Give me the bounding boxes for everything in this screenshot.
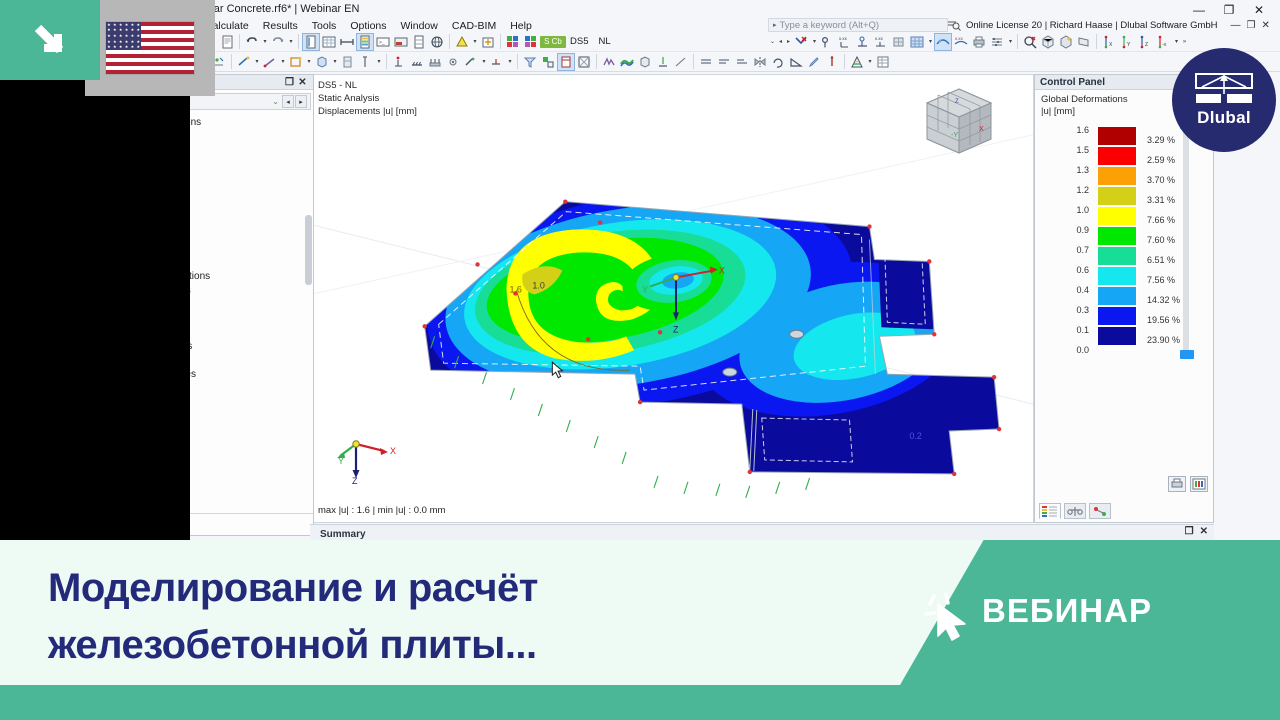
select-dropdown-icon[interactable]: ▾ bbox=[810, 38, 818, 45]
angle-icon[interactable] bbox=[787, 53, 805, 71]
open-document-icon[interactable] bbox=[218, 33, 236, 51]
title-bar: ...inar Concrete.rf6* | Webinar EN — ❐ ✕ bbox=[190, 0, 1280, 20]
webinar-banner: Моделирование и расчёт железобетонной пл… bbox=[0, 540, 1280, 720]
tree-item[interactable]: uX bbox=[190, 143, 313, 157]
viewport-axis-z-label: Z bbox=[673, 324, 679, 334]
legend-swatch[interactable] bbox=[1097, 286, 1137, 306]
tree-item-label: Internal Forces bbox=[190, 285, 191, 296]
window-title: ...inar Concrete.rf6* | Webinar EN bbox=[196, 3, 359, 15]
svg-text:>_: >_ bbox=[379, 40, 385, 46]
view-plane-icon[interactable] bbox=[539, 53, 557, 71]
arrow-overlay-box bbox=[0, 0, 100, 80]
legend-swatch[interactable] bbox=[1097, 246, 1137, 266]
toolbar-separator bbox=[449, 34, 450, 49]
dlubal-wordmark: Dlubal bbox=[1197, 108, 1251, 128]
pin-icon[interactable] bbox=[823, 53, 841, 71]
tree-item[interactable]: |u| bbox=[190, 129, 313, 143]
settings-icon[interactable] bbox=[1190, 476, 1208, 492]
analysis-next-button[interactable]: ▸ bbox=[295, 95, 307, 108]
tab-color-scale[interactable] bbox=[1039, 503, 1061, 519]
tab-scale[interactable] bbox=[1064, 503, 1086, 519]
solids-visibility-icon[interactable] bbox=[636, 53, 654, 71]
window-controls: — ❐ ✕ bbox=[1184, 0, 1274, 20]
tree-item[interactable]: uY bbox=[190, 157, 313, 171]
solid-dropdown-icon[interactable]: ▾ bbox=[331, 58, 339, 65]
line-support-icon[interactable] bbox=[408, 53, 426, 71]
analysis-prev-button[interactable]: ◂ bbox=[282, 95, 294, 108]
abacus-icon[interactable] bbox=[988, 33, 1006, 51]
toolbar-separator bbox=[239, 34, 240, 49]
arrow-down-right-icon bbox=[22, 12, 78, 68]
viewport-info-line-1: DS5 - NL bbox=[318, 79, 417, 92]
mesh-icon[interactable] bbox=[890, 33, 908, 51]
legend-range-slider[interactable] bbox=[1183, 122, 1189, 354]
tree-item-label: Local Deformations bbox=[190, 271, 210, 282]
legend-swatch[interactable] bbox=[1097, 206, 1137, 226]
rigid-link-icon[interactable] bbox=[462, 53, 480, 71]
legend-percent: 7.60 % bbox=[1147, 230, 1203, 250]
viewport-info-line-2: Static Analysis bbox=[318, 92, 417, 105]
rfem-application-window: ...inar Concrete.rf6* | Webinar EN — ❐ ✕… bbox=[190, 0, 1280, 543]
summary-controls: ❐ ✕ bbox=[1185, 526, 1208, 537]
deformation-view-icon[interactable] bbox=[934, 33, 952, 51]
menu-item-help[interactable]: Help bbox=[503, 19, 539, 33]
legend-handle-bottom[interactable] bbox=[1180, 350, 1194, 359]
grid-dropdown-icon[interactable]: ▾ bbox=[926, 38, 934, 45]
tree-item[interactable]: ⌄Global Deformations bbox=[190, 115, 313, 129]
summary-label: Summary bbox=[320, 529, 366, 540]
view-y-icon[interactable]: Y bbox=[1118, 33, 1136, 51]
surface-result-icon[interactable]: x.xx bbox=[872, 33, 890, 51]
analysis-caret-icon[interactable]: ⌄ bbox=[272, 97, 279, 106]
license-info-bar: Online License 20 | Richard Haase | Dlub… bbox=[948, 18, 1270, 32]
tree-item[interactable]: ›Envelope Values bbox=[190, 353, 313, 367]
legend-tick: 0.1 bbox=[1043, 320, 1093, 340]
redo-dropdown-icon[interactable]: ▾ bbox=[287, 38, 295, 45]
click-cursor-icon bbox=[924, 590, 980, 646]
tree-item[interactable]: ›x.xxResult Values bbox=[190, 515, 313, 529]
toolbar-separator bbox=[500, 34, 501, 49]
filter-icon[interactable] bbox=[521, 53, 539, 71]
load-case-value: DS5 bbox=[570, 36, 588, 47]
svg-text:x.xx: x.xx bbox=[875, 36, 884, 41]
members-visibility-icon[interactable] bbox=[600, 53, 618, 71]
tree-item[interactable]: ›Shape bbox=[190, 325, 313, 339]
load-case-tag: S Cb bbox=[540, 36, 566, 48]
results-colors-icon[interactable] bbox=[504, 33, 522, 51]
legend-swatch[interactable] bbox=[1097, 306, 1137, 326]
surface-create-icon[interactable] bbox=[287, 53, 305, 71]
view-dropdown-icon[interactable]: ▾ bbox=[1172, 38, 1180, 45]
license-search-icon bbox=[948, 20, 961, 31]
legend-tick: 1.5 bbox=[1043, 140, 1093, 160]
legend-percent-labels: 3.29 %2.59 %3.70 %3.31 %7.66 %7.60 %6.51… bbox=[1147, 130, 1203, 350]
menu-item-tools[interactable]: Tools bbox=[305, 19, 344, 33]
summary-close-button[interactable]: ✕ bbox=[1200, 526, 1208, 537]
legend-tick: 1.0 bbox=[1043, 200, 1093, 220]
legend-swatch[interactable] bbox=[1097, 126, 1137, 146]
legend-percent: 7.66 % bbox=[1147, 210, 1203, 230]
doc-restore-button[interactable]: ❐ bbox=[1247, 20, 1256, 31]
add-load-icon[interactable] bbox=[479, 33, 497, 51]
tree-item[interactable]: ›xxValues on Surfaces bbox=[190, 367, 313, 381]
tree-item[interactable]: ›Support Reactions bbox=[190, 339, 313, 353]
print-icon[interactable] bbox=[1168, 476, 1186, 492]
section-icon[interactable] bbox=[339, 53, 357, 71]
legend-swatch[interactable] bbox=[1097, 226, 1137, 246]
toolbar-separator bbox=[596, 54, 597, 69]
svg-text:x.xx: x.xx bbox=[839, 36, 848, 41]
script-icon[interactable] bbox=[392, 33, 410, 51]
tree-item[interactable]: uZ bbox=[190, 171, 313, 185]
iso-view2-icon[interactable] bbox=[1057, 33, 1075, 51]
legend-tick: 1.3 bbox=[1043, 160, 1093, 180]
toolbar-primary: ▾ ▾ ▾ >_ bbox=[190, 32, 1280, 52]
svg-text:Z: Z bbox=[352, 476, 358, 484]
legend-swatch[interactable] bbox=[1097, 146, 1137, 166]
results-tree[interactable]: ⌄Global Deformations|u|uXuYuZφXφYφZ›Memb… bbox=[190, 113, 313, 513]
control-panel: Control Panel Global Deformations |u| [m… bbox=[1034, 74, 1214, 523]
model-viewport[interactable]: X Y Z 1.6 1.0 0.2 DS5 - NL Static Analys… bbox=[310, 74, 1034, 523]
control-panel-title: Control Panel bbox=[1040, 77, 1105, 88]
console-icon[interactable]: >_ bbox=[374, 33, 392, 51]
legend-swatch[interactable] bbox=[1097, 326, 1137, 346]
design-situation-value: NL bbox=[598, 36, 768, 47]
legend-tick: 1.6 bbox=[1043, 120, 1093, 140]
contour-label-16: 1.6 bbox=[509, 284, 521, 294]
navcube-y-label: -Y bbox=[951, 132, 958, 139]
redo-icon[interactable] bbox=[269, 33, 287, 51]
legend-percent: 2.59 % bbox=[1147, 150, 1203, 170]
legend-tick-labels: 1.61.51.31.21.00.90.70.60.40.30.10.0 bbox=[1043, 120, 1093, 360]
tree-item[interactable]: ›Internal Forces bbox=[190, 283, 313, 297]
tree-item[interactable]: ›Members bbox=[190, 227, 313, 241]
view-z-icon[interactable]: Z bbox=[1136, 33, 1154, 51]
sidebar-icon[interactable] bbox=[410, 33, 428, 51]
mirror-icon[interactable] bbox=[751, 53, 769, 71]
legend-percent: 3.31 % bbox=[1147, 190, 1203, 210]
zoom-reset-icon[interactable] bbox=[1021, 33, 1039, 51]
results-tree-footer[interactable]: ›x.xxResult ValuesTitle InformationMax/M… bbox=[190, 513, 313, 543]
member-dropdown-icon[interactable]: ▾ bbox=[279, 58, 287, 65]
viewport-axis-x-label: X bbox=[719, 265, 725, 275]
results-colors-alt-icon[interactable] bbox=[522, 33, 540, 51]
eccentricity-icon[interactable] bbox=[488, 53, 506, 71]
banner-title: Моделирование и расчёт железобетонной пл… bbox=[48, 560, 868, 674]
view-neg-x-icon[interactable]: -X bbox=[1154, 33, 1172, 51]
legend-tick: 1.2 bbox=[1043, 180, 1093, 200]
tree-item[interactable]: φY bbox=[190, 199, 313, 213]
view-x-icon[interactable]: X bbox=[1100, 33, 1118, 51]
svg-text:Y: Y bbox=[1127, 42, 1131, 48]
material-icon[interactable] bbox=[357, 53, 375, 71]
menu-item-window[interactable]: Window bbox=[394, 19, 445, 33]
legend-tick: 0.6 bbox=[1043, 260, 1093, 280]
solid-create-icon[interactable] bbox=[313, 53, 331, 71]
render-mode-icon[interactable] bbox=[557, 53, 575, 71]
svg-text:-X: -X bbox=[1162, 42, 1166, 47]
license-text: Online License 20 | Richard Haase | Dlub… bbox=[966, 20, 1218, 31]
viewport-info-block: DS5 - NL Static Analysis Displacements |… bbox=[318, 79, 417, 118]
colorscale-dropdown-icon[interactable]: ▾ bbox=[866, 58, 874, 65]
flag-canton: ★★★★★★ ★★★★★★ ★★★★★★ ★★★★★★ ★★★★★★ bbox=[106, 22, 141, 50]
navcube-x-label: X bbox=[979, 126, 984, 133]
perspective-icon[interactable] bbox=[1075, 33, 1093, 51]
toolbar-separator bbox=[1096, 34, 1097, 49]
wireframe-icon[interactable] bbox=[575, 53, 593, 71]
iso-view-icon[interactable] bbox=[1039, 33, 1057, 51]
control-panel-tabs bbox=[1039, 503, 1111, 519]
legend-percent: 6.51 % bbox=[1147, 250, 1203, 270]
legend-tick: 0.9 bbox=[1043, 220, 1093, 240]
doc-minimize-button[interactable]: — bbox=[1231, 20, 1241, 31]
node-result-icon[interactable] bbox=[818, 33, 836, 51]
toolbar-separator bbox=[298, 34, 299, 49]
tree-item[interactable]: ›Stresses bbox=[190, 297, 313, 311]
ds-dropdown-icon[interactable]: ⌄ bbox=[768, 38, 776, 45]
toolbar-separator bbox=[517, 54, 518, 69]
svg-text:Z: Z bbox=[1145, 42, 1148, 48]
line-dropdown-icon[interactable]: ▾ bbox=[253, 58, 261, 65]
load-icon[interactable] bbox=[453, 33, 471, 51]
surface-support-icon[interactable] bbox=[426, 53, 444, 71]
ds-next-icon[interactable]: ▸ bbox=[784, 38, 792, 45]
nodal-support-icon[interactable] bbox=[390, 53, 408, 71]
contour-label-10: 1.0 bbox=[532, 280, 544, 290]
toolbar-separator bbox=[386, 54, 387, 69]
tree-item-label: Support Reactions bbox=[190, 341, 192, 352]
color-legend[interactable]: 1.61.51.31.21.00.90.70.60.40.30.10.0 3.2… bbox=[1035, 126, 1213, 376]
tree-item[interactable]: φZ bbox=[190, 213, 313, 227]
legend-percent: 7.56 % bbox=[1147, 270, 1203, 290]
dlubal-logo: Dlubal bbox=[1172, 48, 1276, 152]
supports-visibility-icon[interactable] bbox=[654, 53, 672, 71]
toolbar-overflow-icon[interactable]: » bbox=[1180, 39, 1188, 45]
control-panel-icon[interactable] bbox=[356, 33, 374, 51]
load-dropdown-icon[interactable]: ▾ bbox=[471, 38, 479, 45]
tree-item[interactable]: ›Strains bbox=[190, 311, 313, 325]
summary-float-button[interactable]: ❐ bbox=[1185, 526, 1194, 537]
flag-overlay-box: ★★★★★★ ★★★★★★ ★★★★★★ ★★★★★★ ★★★★★★ bbox=[85, 0, 215, 96]
material-dropdown-icon[interactable]: ▾ bbox=[375, 58, 383, 65]
viewport-maxmin-text: max |u| : 1.6 | min |u| : 0.0 mm bbox=[318, 505, 445, 516]
measure-icon[interactable] bbox=[338, 33, 356, 51]
doc-window-controls: — ❐ ✕ bbox=[1231, 20, 1270, 31]
deformation-values-icon[interactable]: x.xx bbox=[952, 33, 970, 51]
table-results-icon[interactable] bbox=[874, 53, 892, 71]
pen-icon[interactable] bbox=[805, 53, 823, 71]
tree-item[interactable]: ⌄Surfaces bbox=[190, 241, 313, 255]
abacus-dropdown-icon[interactable]: ▾ bbox=[1006, 38, 1014, 45]
minimize-button[interactable]: — bbox=[1184, 0, 1214, 20]
color-scale-icon[interactable] bbox=[848, 53, 866, 71]
us-flag-icon: ★★★★★★ ★★★★★★ ★★★★★★ ★★★★★★ ★★★★★★ bbox=[106, 22, 194, 74]
align-2-icon[interactable] bbox=[715, 53, 733, 71]
doc-close-button[interactable]: ✕ bbox=[1262, 20, 1270, 31]
tree-item-label: Global Deformations bbox=[190, 117, 201, 128]
tree-item[interactable]: ›Local Deformations bbox=[190, 269, 313, 283]
ecc-dropdown-icon[interactable]: ▾ bbox=[506, 58, 514, 65]
undo-icon[interactable] bbox=[243, 33, 261, 51]
keyword-search-input[interactable]: ▸ Type a keyword (Alt+Q) bbox=[768, 18, 948, 32]
toolbar-separator bbox=[844, 54, 845, 69]
surface-dropdown-icon[interactable]: ▾ bbox=[305, 58, 313, 65]
values-result-icon[interactable]: x.xx bbox=[836, 33, 854, 51]
menu-item-cad-bim[interactable]: CAD-BIM bbox=[445, 19, 503, 33]
control-panel-buttons bbox=[1168, 476, 1208, 492]
legend-swatch[interactable] bbox=[1097, 186, 1137, 206]
svg-text:X: X bbox=[1109, 42, 1113, 48]
svg-text:Y: Y bbox=[338, 456, 344, 466]
banner-bottom-strip bbox=[0, 685, 1280, 720]
align-1-icon[interactable] bbox=[697, 53, 715, 71]
surfaces-visibility-icon[interactable] bbox=[618, 53, 636, 71]
grid-icon[interactable] bbox=[908, 33, 926, 51]
navigator-close-button[interactable]: ✕ bbox=[296, 77, 309, 88]
toolbar-separator bbox=[1017, 34, 1018, 49]
contour-label-02: 0.2 bbox=[909, 431, 921, 441]
banner-badge: ВЕБИНАР bbox=[982, 592, 1152, 630]
undo-dropdown-icon[interactable]: ▾ bbox=[261, 38, 269, 45]
navigator-scrollbar[interactable] bbox=[305, 215, 312, 285]
search-caret-icon: ▸ bbox=[773, 21, 777, 29]
global-axis-triad: X Y Z bbox=[336, 434, 406, 484]
table-panel-icon[interactable] bbox=[320, 33, 338, 51]
legend-swatch[interactable] bbox=[1097, 266, 1137, 286]
viewport-info-line-3: Displacements |u| [mm] bbox=[318, 105, 417, 118]
align-3-icon[interactable] bbox=[733, 53, 751, 71]
tree-item-label: Values on Surfaces bbox=[190, 369, 196, 380]
member-create-icon[interactable] bbox=[261, 53, 279, 71]
menu-item-options[interactable]: Options bbox=[343, 19, 393, 33]
tree-item[interactable]: φX bbox=[190, 185, 313, 199]
navigator-panel-icon[interactable] bbox=[302, 33, 320, 51]
legend-swatch[interactable] bbox=[1097, 166, 1137, 186]
legend-tick: 0.3 bbox=[1043, 300, 1093, 320]
navcube-z-label: Z bbox=[955, 99, 959, 105]
legend-tick: 0.4 bbox=[1043, 280, 1093, 300]
navigator-float-button[interactable]: ❐ bbox=[283, 77, 296, 88]
svg-text:x.xx: x.xx bbox=[955, 36, 964, 41]
navigator-panel: Navigator - Results ❐ ✕ Static Analysis … bbox=[190, 74, 314, 536]
view-navigation-cube[interactable]: -Y X Z bbox=[917, 83, 1001, 167]
line-create-icon[interactable] bbox=[235, 53, 253, 71]
legend-tick: 0.7 bbox=[1043, 240, 1093, 260]
support-result-icon[interactable] bbox=[854, 33, 872, 51]
legend-tick: 0.0 bbox=[1043, 340, 1093, 360]
ds-prev-icon[interactable]: ◂ bbox=[776, 38, 784, 45]
legend-percent: 14.32 % bbox=[1147, 290, 1203, 310]
legend-percent: 23.90 % bbox=[1147, 330, 1203, 350]
globe-icon[interactable] bbox=[428, 33, 446, 51]
tab-factors[interactable] bbox=[1089, 503, 1111, 519]
dlubal-mark-icon bbox=[1194, 72, 1254, 106]
viewport-axis-y-label: Y bbox=[642, 284, 648, 294]
search-placeholder: Type a keyword (Alt+Q) bbox=[780, 20, 880, 31]
legend-percent: 19.56 % bbox=[1147, 310, 1203, 330]
dimension-icon[interactable] bbox=[672, 53, 690, 71]
toolbar-separator bbox=[693, 54, 694, 69]
select-nodes-icon[interactable] bbox=[792, 33, 810, 51]
close-button[interactable]: ✕ bbox=[1244, 0, 1274, 20]
tree-item[interactable]: ›Layer Side bbox=[190, 255, 313, 269]
toolbar-secondary: ▾ ▾ ▾ ▾ ▾ bbox=[190, 52, 1280, 72]
maximize-button[interactable]: ❐ bbox=[1214, 0, 1244, 20]
menu-item-results[interactable]: Results bbox=[256, 19, 305, 33]
rigid-dropdown-icon[interactable]: ▾ bbox=[480, 58, 488, 65]
toolbar-separator bbox=[231, 54, 232, 69]
rotate-icon[interactable] bbox=[769, 53, 787, 71]
legend-color-swatches bbox=[1097, 126, 1137, 346]
legend-percent: 3.70 % bbox=[1147, 170, 1203, 190]
svg-text:X: X bbox=[390, 446, 396, 456]
print-report-icon[interactable] bbox=[970, 33, 988, 51]
hinge-icon[interactable] bbox=[444, 53, 462, 71]
